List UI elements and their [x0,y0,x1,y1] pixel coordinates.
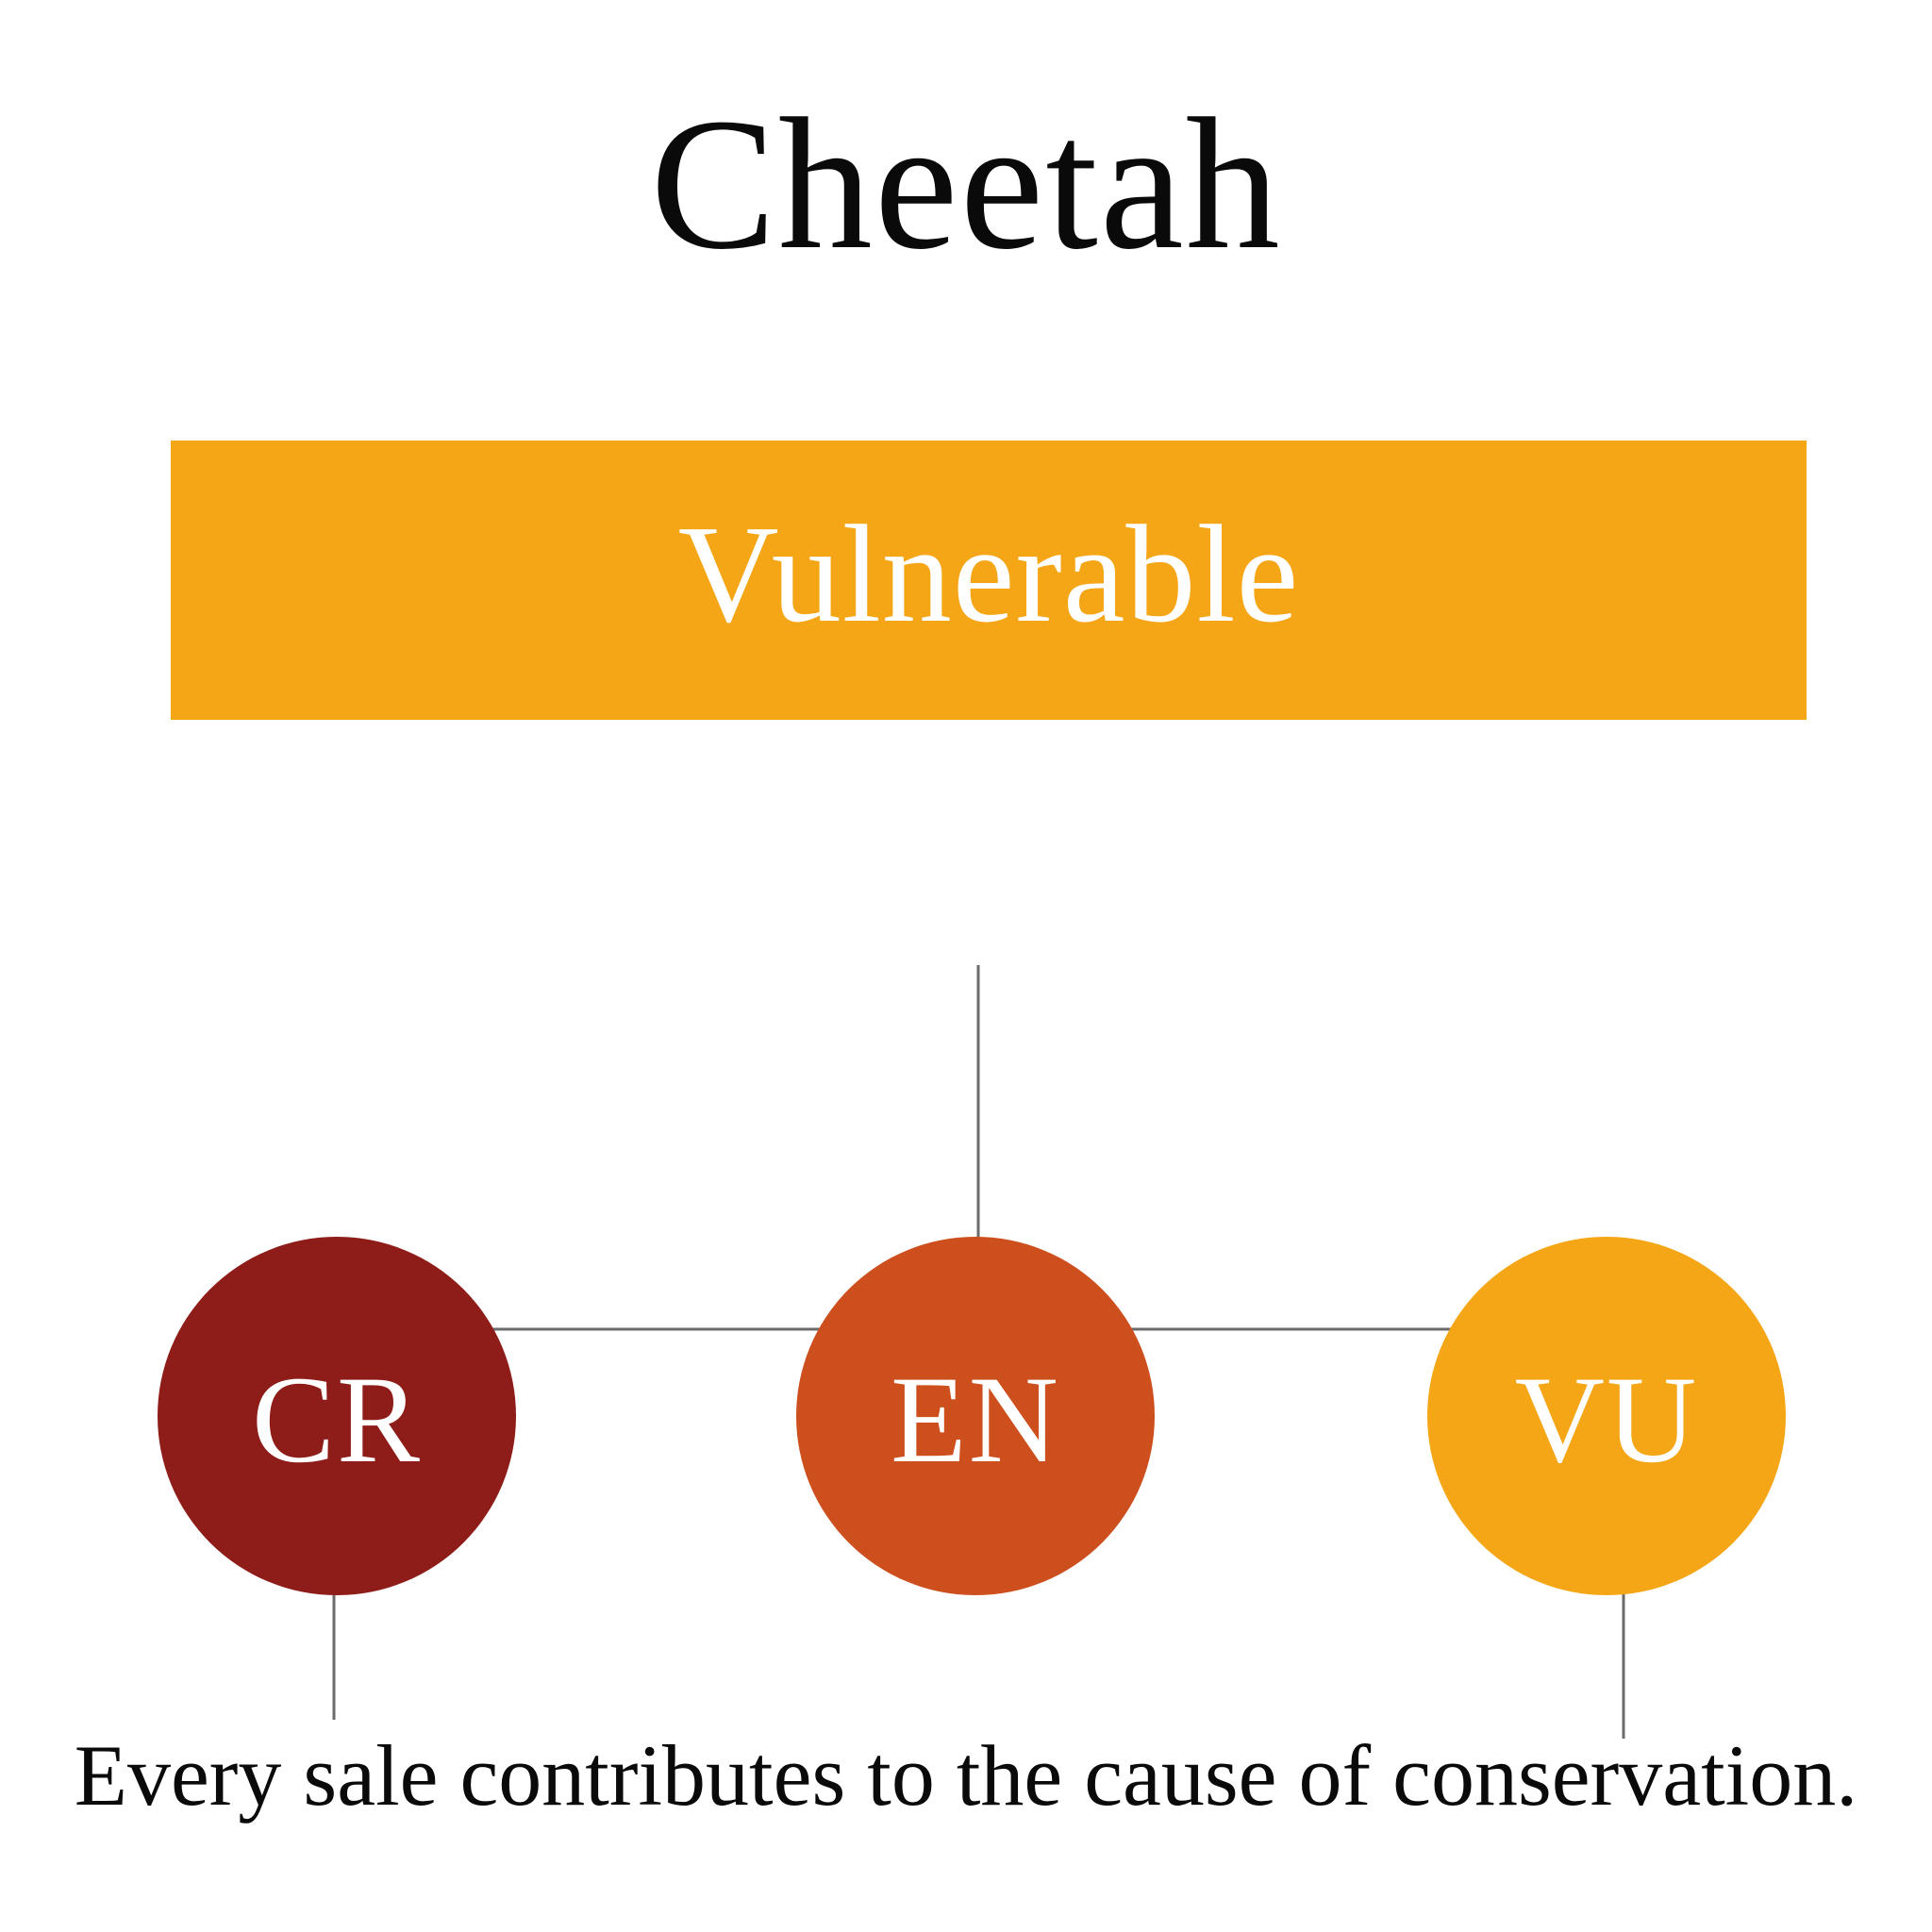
status-circle-vu[interactable]: VU [1427,1237,1786,1595]
status-circle-en[interactable]: EN [796,1237,1155,1595]
page-title: Cheetah [0,91,1932,279]
status-banner: Vulnerable [171,441,1807,720]
status-scale: CR EN VU [0,1237,1932,1614]
status-circle-cr[interactable]: CR [158,1237,516,1595]
conservation-status-card: Cheetah Vulnerable CR EN VU Every sale c… [0,0,1932,1932]
caption-text: Every sale contributes to the cause of c… [0,1728,1932,1824]
connector-tree [0,0,1932,1932]
status-banner-label: Vulnerable [678,505,1300,644]
status-circle-vu-label: VU [1515,1357,1699,1482]
status-circle-cr-label: CR [252,1357,422,1482]
status-circle-en-label: EN [891,1357,1060,1482]
